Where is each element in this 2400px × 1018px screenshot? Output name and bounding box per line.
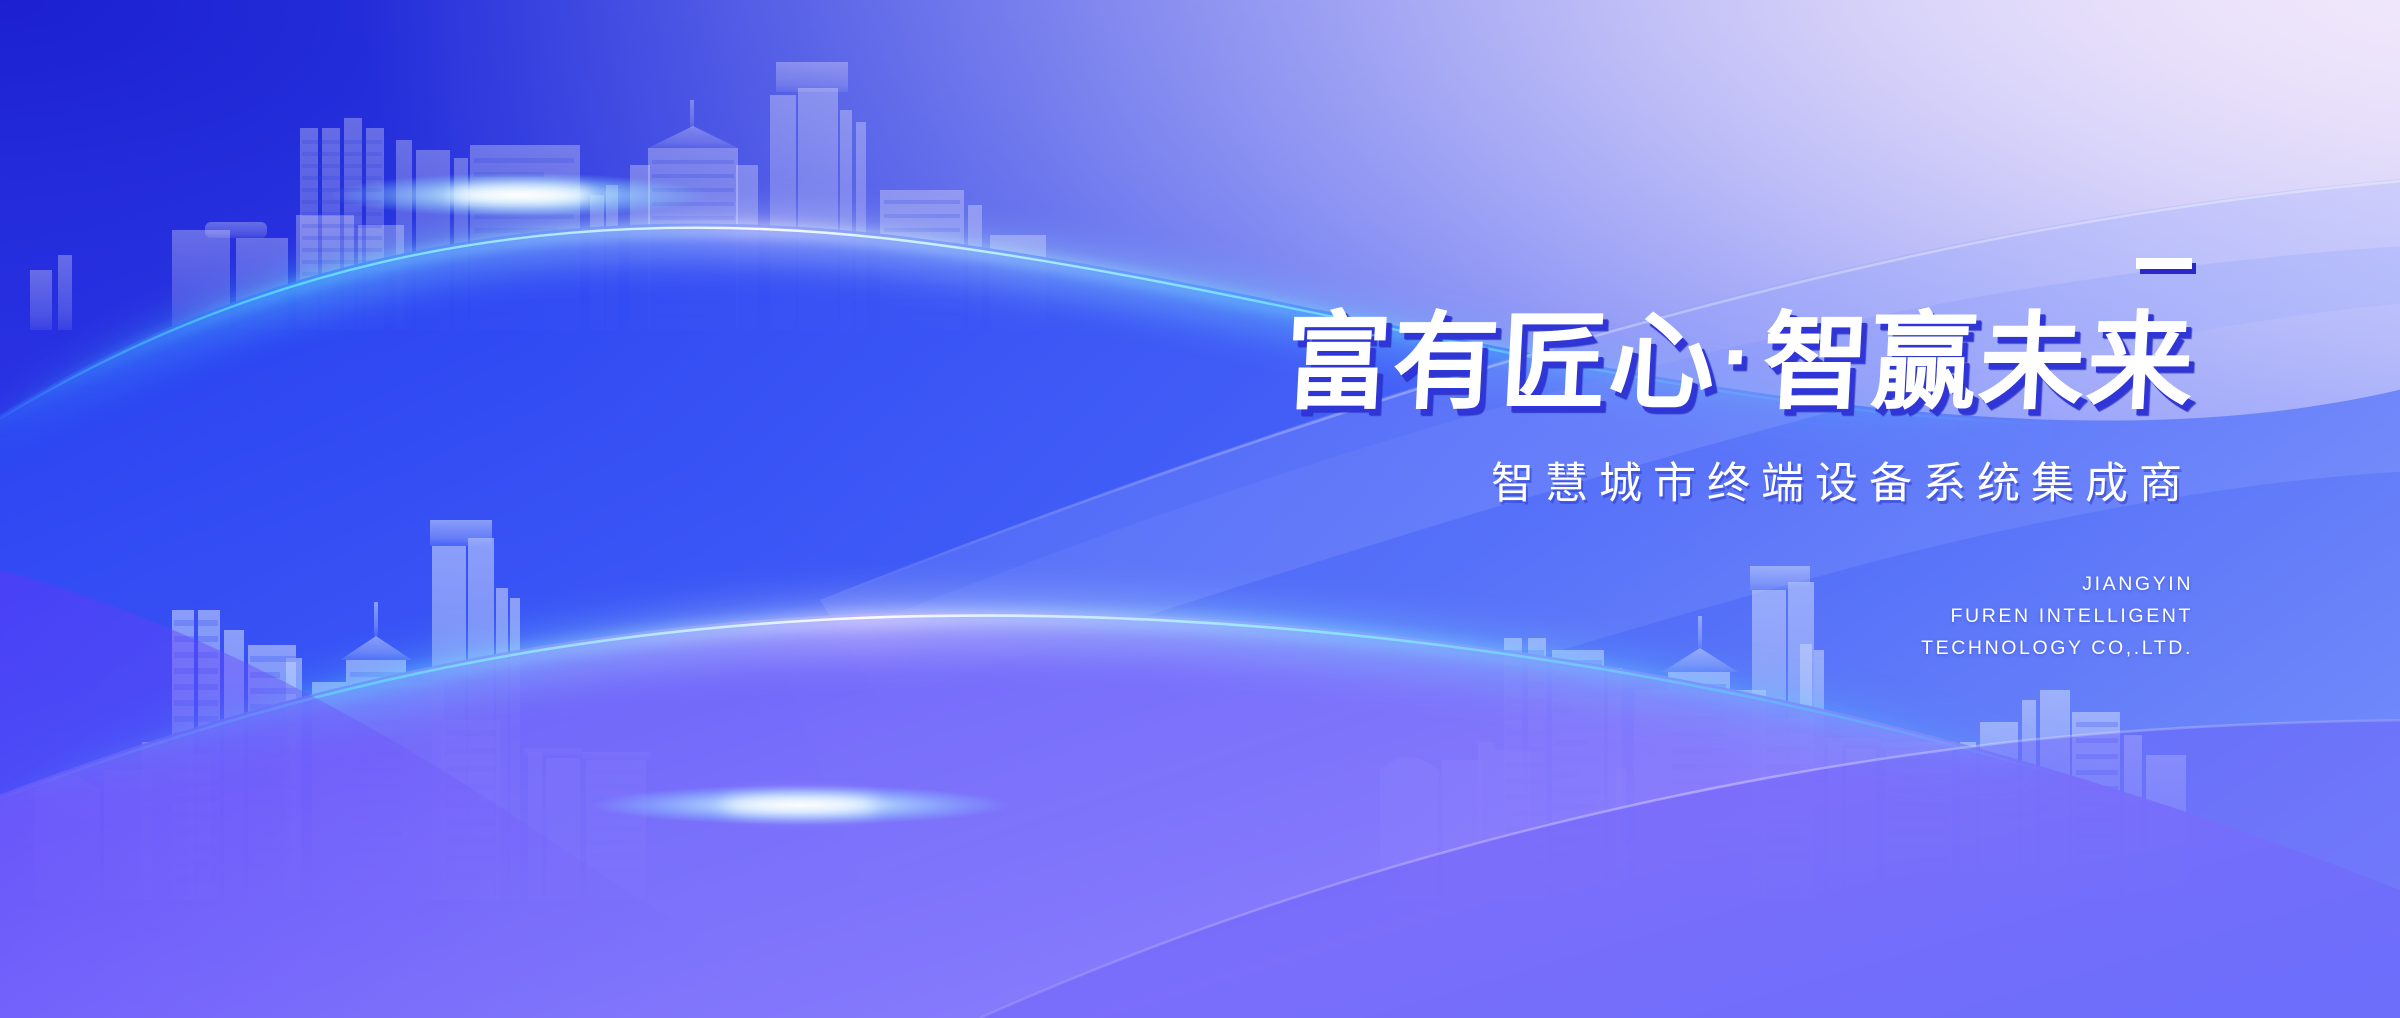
headline-separator: · <box>1719 315 1762 401</box>
page-title: 富有匠心·智赢未来 <box>1052 307 2198 419</box>
company-line-2: FUREN INTELLIGENT <box>1055 601 2193 633</box>
promotional-banner: 富有匠心·智赢未来 智慧城市终端设备系统集成商 JIANGYIN FUREN I… <box>0 0 2400 1018</box>
company-line-1: JIANGYIN <box>1055 569 2193 601</box>
company-name-english: JIANGYIN FUREN INTELLIGENT TECHNOLOGY CO… <box>1055 569 2195 664</box>
headline-text-block: 富有匠心·智赢未来 智慧城市终端设备系统集成商 JIANGYIN FUREN I… <box>1055 258 2195 664</box>
headline-part-1: 富有匠心 <box>1282 301 1720 424</box>
company-line-3: TECHNOLOGY CO,.LTD. <box>1055 633 2193 665</box>
subtitle: 智慧城市终端设备系统集成商 <box>1055 449 2195 511</box>
dash-mark-decoration <box>2136 258 2192 269</box>
headline-part-2: 智赢未来 <box>1760 301 2198 424</box>
